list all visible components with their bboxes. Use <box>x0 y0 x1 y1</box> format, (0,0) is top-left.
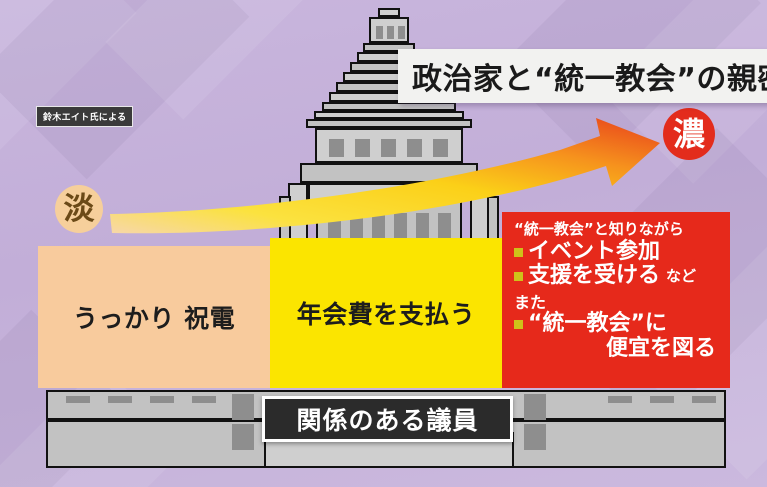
stage-strong-content: “統一教会”と知りながら イベント参加 支援を受ける など また “統一教会”に… <box>514 221 720 361</box>
square-bullet-icon <box>514 272 523 281</box>
scale-marker-low: 淡 <box>55 185 103 233</box>
bottom-banner-label: 関係のある議員 <box>296 401 478 437</box>
bottom-banner: 関係のある議員 <box>262 396 513 442</box>
stage-strong-items-suffix: など <box>666 268 696 285</box>
stage-strong-item-1: 支援を受ける など <box>514 264 720 289</box>
stage-strong-item-0: イベント参加 <box>514 240 720 265</box>
square-bullet-icon <box>514 320 523 329</box>
stage-panel-light: うっかり 祝電 <box>38 246 270 388</box>
stage-panel-medium: 年会費を支払う <box>270 238 502 388</box>
stage-strong-item-2: “統一教会”に <box>514 312 720 337</box>
stage-strong-item-1-label: 支援を受ける <box>528 264 660 289</box>
stage-strong-connector: また <box>514 294 720 312</box>
scale-marker-low-label: 淡 <box>64 194 95 225</box>
square-bullet-icon <box>514 248 523 257</box>
scale-marker-high: 濃 <box>663 108 715 160</box>
title-box: 政治家と“統一教会”の親密度 <box>398 49 767 103</box>
stage-strong-item-0-label: イベント参加 <box>528 240 660 265</box>
stage-strong-heading: “統一教会”と知りながら <box>514 221 720 238</box>
source-credit-chip: 鈴木エイト氏による <box>36 106 133 127</box>
stage-strong-item-2-line2: 便宜を図る <box>514 337 720 362</box>
page-title: 政治家と“統一教会”の親密度 <box>398 54 767 98</box>
stage-strong-item-2-line1: “統一教会”に <box>528 312 667 337</box>
scale-marker-high-label: 濃 <box>673 118 705 150</box>
stage-label-light: うっかり 祝電 <box>73 299 235 335</box>
stage-panel-strong: “統一教会”と知りながら イベント参加 支援を受ける など また “統一教会”に… <box>502 212 730 388</box>
stage-label-medium: 年会費を支払う <box>297 295 476 331</box>
infographic-stage: うっかり 祝電 年会費を支払う “統一教会”と知りながら イベント参加 支援を受… <box>0 0 767 487</box>
